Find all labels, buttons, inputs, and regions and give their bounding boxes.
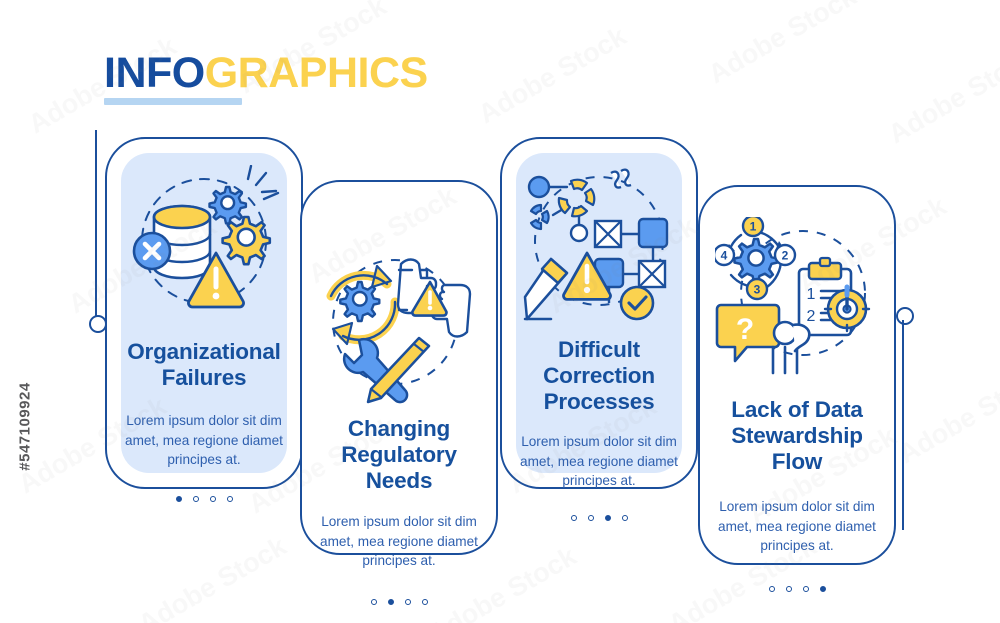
- database-error-gears-warning-icon: [122, 165, 286, 325]
- step-dot-4[interactable]: [422, 599, 428, 605]
- step-dot-2[interactable]: [786, 586, 792, 592]
- svg-text:3: 3: [754, 283, 761, 297]
- card-description: Lorem ipsum dolor sit dim amet, mea regi…: [718, 497, 876, 556]
- card-title: Difficult Correction Processes: [520, 337, 678, 415]
- step-indicator[interactable]: [371, 599, 428, 605]
- step-dot-4[interactable]: [622, 515, 628, 521]
- svg-text:2: 2: [782, 249, 789, 263]
- page-title-secondary: GRAPHICS: [205, 49, 428, 97]
- step-dot-3[interactable]: [605, 515, 611, 521]
- card-title: Changing Regulatory Needs: [320, 416, 478, 494]
- gear-cycle-thumbs-tools-icon: [317, 244, 481, 404]
- card-organizational-failures[interactable]: Organizational Failures Lorem ipsum dolo…: [105, 137, 303, 489]
- step-dot-2[interactable]: [388, 599, 394, 605]
- step-indicator[interactable]: [176, 496, 233, 502]
- card-difficult-correction-processes[interactable]: Difficult Correction Processes Lorem ips…: [500, 137, 698, 489]
- step-dot-2[interactable]: [193, 496, 199, 502]
- card-description: Lorem ipsum dolor sit dim amet, mea regi…: [125, 411, 283, 470]
- card-title: Organizational Failures: [125, 339, 283, 391]
- card-description: Lorem ipsum dolor sit dim amet, mea regi…: [520, 432, 678, 491]
- title-underline-bar: [104, 98, 242, 105]
- svg-text:4: 4: [721, 249, 728, 263]
- step-dot-1[interactable]: [176, 496, 182, 502]
- card-lack-of-data-stewardship-flow[interactable]: 1 2 3 4 1 2: [698, 185, 896, 565]
- step-indicator[interactable]: [769, 586, 826, 592]
- step-dot-4[interactable]: [227, 496, 233, 502]
- network-nodes-warning-check-icon: [517, 165, 681, 325]
- cycle-clipboard-question-person-icon: 1 2 3 4 1 2: [715, 217, 879, 377]
- card-description: Lorem ipsum dolor sit dim amet, mea regi…: [320, 512, 478, 571]
- card-changing-regulatory-needs[interactable]: Changing Regulatory Needs Lorem ipsum do…: [300, 180, 498, 555]
- step-dot-1[interactable]: [769, 586, 775, 592]
- svg-text:?: ?: [736, 313, 754, 346]
- page-title: INFOGRAPHICS: [104, 50, 624, 96]
- page-title-primary: INFO: [104, 49, 205, 97]
- step-dot-4[interactable]: [820, 586, 826, 592]
- step-dot-1[interactable]: [371, 599, 377, 605]
- svg-text:2: 2: [807, 308, 816, 325]
- step-indicator[interactable]: [571, 515, 628, 521]
- svg-text:1: 1: [750, 220, 757, 234]
- watermark-tile: Adobe Stock: [883, 41, 1000, 150]
- asset-id-watermark: #547109924: [17, 357, 34, 497]
- watermark-tile: Adobe Stock: [133, 531, 291, 623]
- connector-left: [90, 130, 106, 340]
- connector-right: [897, 307, 913, 537]
- svg-text:1: 1: [807, 286, 816, 303]
- step-dot-3[interactable]: [405, 599, 411, 605]
- card-title: Lack of Data Stewardship Flow: [718, 397, 876, 475]
- step-dot-3[interactable]: [803, 586, 809, 592]
- step-dot-1[interactable]: [571, 515, 577, 521]
- step-dot-3[interactable]: [210, 496, 216, 502]
- watermark-tile: Adobe Stock: [703, 0, 861, 90]
- page-title-block: INFOGRAPHICS: [104, 50, 624, 110]
- step-dot-2[interactable]: [588, 515, 594, 521]
- infographic-canvas: INFOGRAPHICS #547109924: [0, 0, 1000, 623]
- connector-right-endpoint: [896, 307, 914, 325]
